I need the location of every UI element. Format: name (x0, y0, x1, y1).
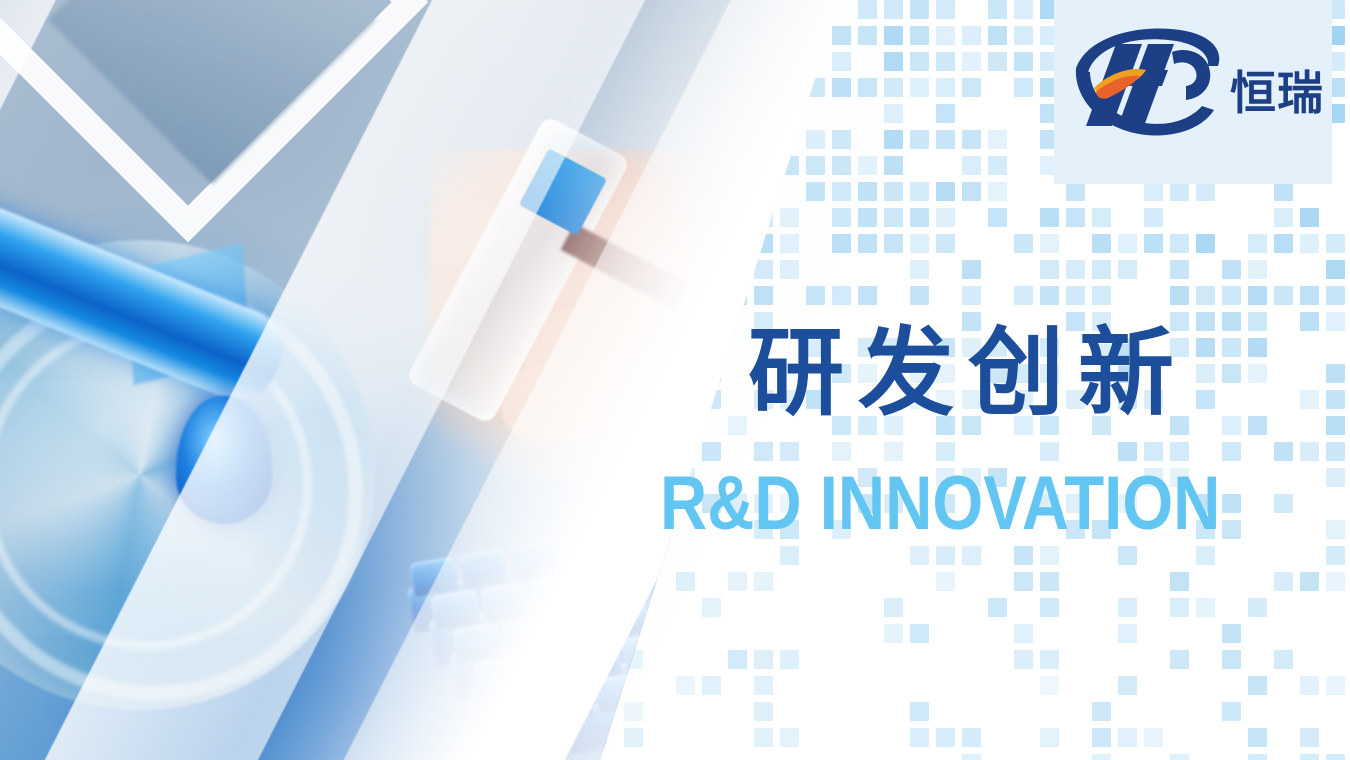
hengrui-mark-icon (1068, 22, 1228, 144)
capsule-vial (677, 550, 728, 591)
page-subtitle: R&D INNOVATION (660, 466, 1220, 542)
capsule-vial (643, 665, 694, 706)
capsule-vial (727, 542, 778, 583)
page-title: 研发创新 (748, 326, 1188, 422)
photo-collage (0, 0, 860, 760)
capsule-vial (649, 591, 700, 632)
rd-innovation-banner: 研发创新 R&D INNOVATION 恒瑞 (0, 0, 1350, 760)
capsule-vial (699, 583, 750, 624)
capsule-vial (791, 642, 842, 683)
capsule-vial (770, 608, 821, 649)
capsule-vial (671, 624, 722, 665)
capsule-vial (742, 649, 793, 690)
capsule-vial (720, 616, 771, 657)
capsule-vial (692, 657, 743, 698)
capsule-vial (748, 575, 799, 616)
logo-brand-cn: 恒瑞 (1230, 70, 1324, 116)
logo-container[interactable]: 恒瑞 (1054, 0, 1332, 184)
